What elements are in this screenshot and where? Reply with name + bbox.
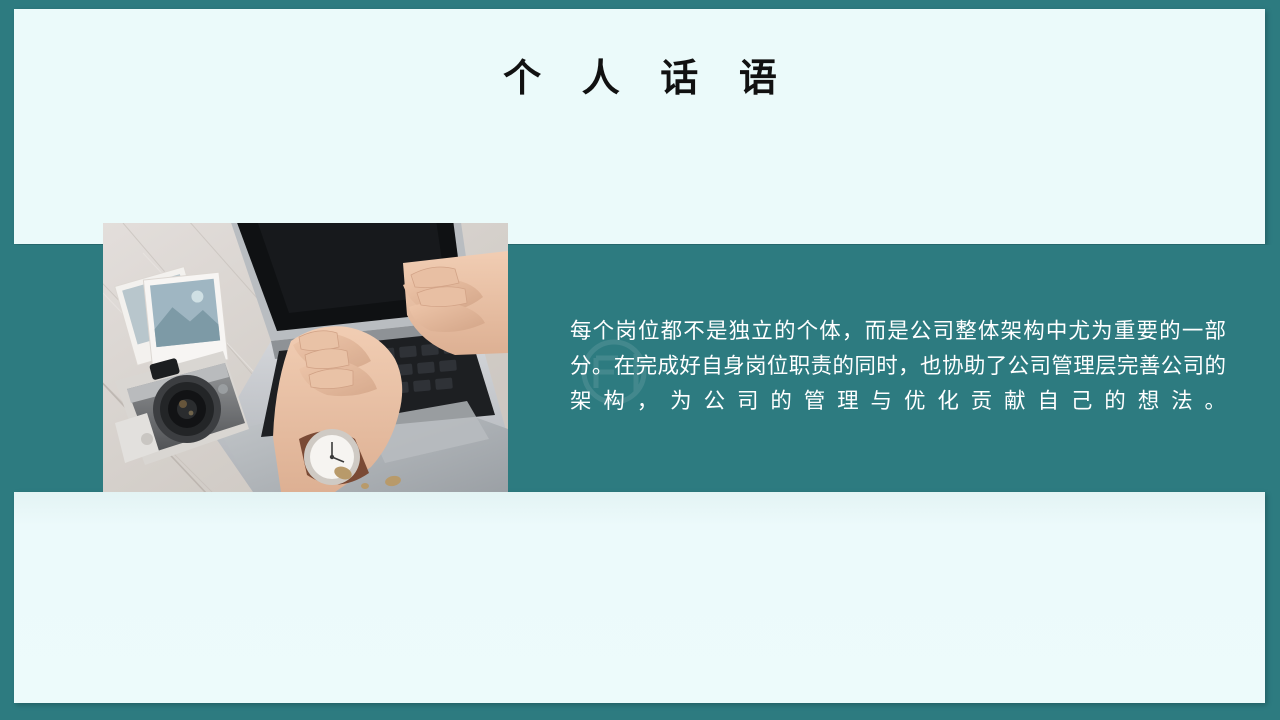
page-title: 个 人 话 语 bbox=[0, 56, 1280, 102]
bottom-panel bbox=[14, 492, 1265, 703]
slide-canvas: 个 人 话 语 bbox=[0, 0, 1280, 720]
content-photo bbox=[103, 223, 508, 492]
top-panel bbox=[14, 9, 1265, 244]
body-paragraph: 每个岗位都不是独立的个体，而是公司整体架构中尤为重要的一部分。在完成好自身岗位职… bbox=[570, 314, 1226, 419]
